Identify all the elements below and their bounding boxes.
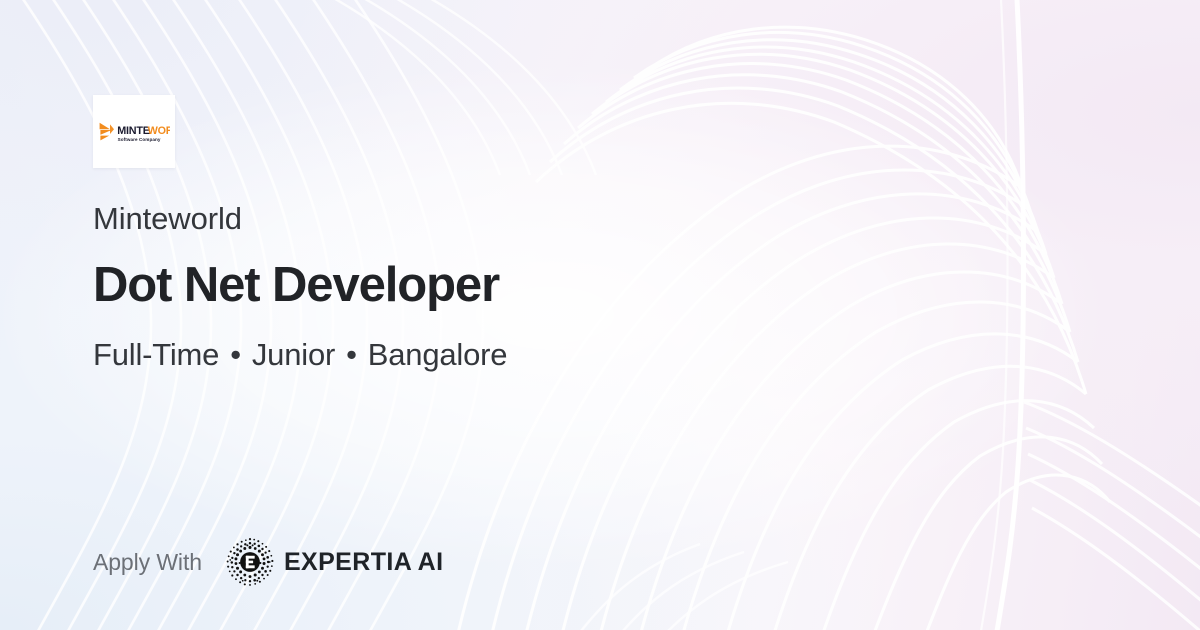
minteworld-logo-icon: MINTE WORLD Software Company: [98, 117, 170, 147]
expertia-brand-name: EXPERTIA AI: [284, 548, 444, 577]
svg-text:WORLD: WORLD: [148, 125, 170, 137]
apply-footer: Apply With: [93, 536, 443, 588]
svg-text:MINTE: MINTE: [117, 125, 150, 137]
meta-separator-2: •: [335, 339, 368, 370]
meta-separator-1: •: [219, 339, 252, 370]
company-name: Minteworld: [93, 203, 1200, 234]
job-meta: Full-Time • Junior • Bangalore: [93, 339, 1200, 370]
svg-text:Software Company: Software Company: [118, 137, 161, 142]
job-location: Bangalore: [368, 339, 508, 370]
company-logo-card: MINTE WORLD Software Company: [93, 95, 175, 168]
job-posting-card: MINTE WORLD Software Company Minteworld …: [0, 0, 1200, 630]
job-title: Dot Net Developer: [93, 260, 1200, 311]
job-seniority: Junior: [252, 339, 335, 370]
job-employment-type: Full-Time: [93, 339, 219, 370]
expertia-logo-icon: [224, 536, 276, 588]
apply-with-label: Apply With: [93, 549, 202, 576]
expertia-ai-brand[interactable]: EXPERTIA AI: [224, 536, 444, 588]
